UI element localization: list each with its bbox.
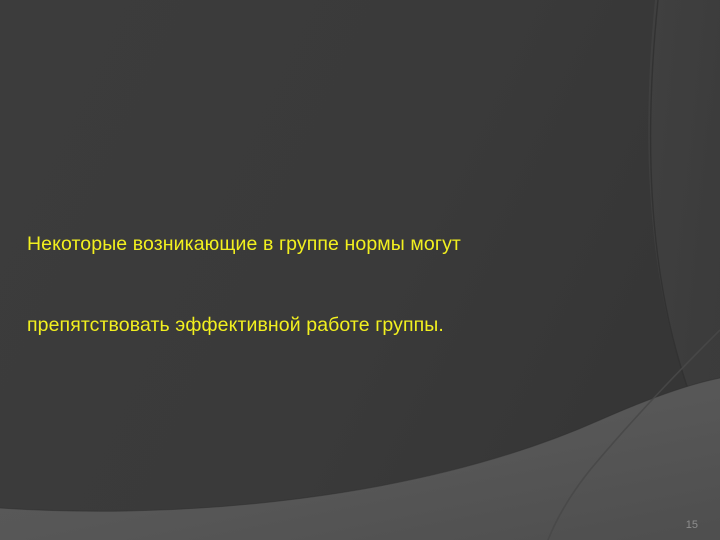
paragraph-1: Некоторые возникающие в группе нормы мог… <box>27 177 699 393</box>
text-line: Некоторые возникающие в группе нормы мог… <box>27 231 699 258</box>
presentation-slide: Некоторые возникающие в группе нормы мог… <box>0 0 720 540</box>
slide-body-text: Некоторые возникающие в группе нормы мог… <box>27 96 699 540</box>
slide-number: 15 <box>686 518 698 532</box>
text-line: препятствовать эффективной работе группы… <box>27 312 699 339</box>
paragraph-2: Если группа поощряет это поведение или н… <box>27 501 699 540</box>
